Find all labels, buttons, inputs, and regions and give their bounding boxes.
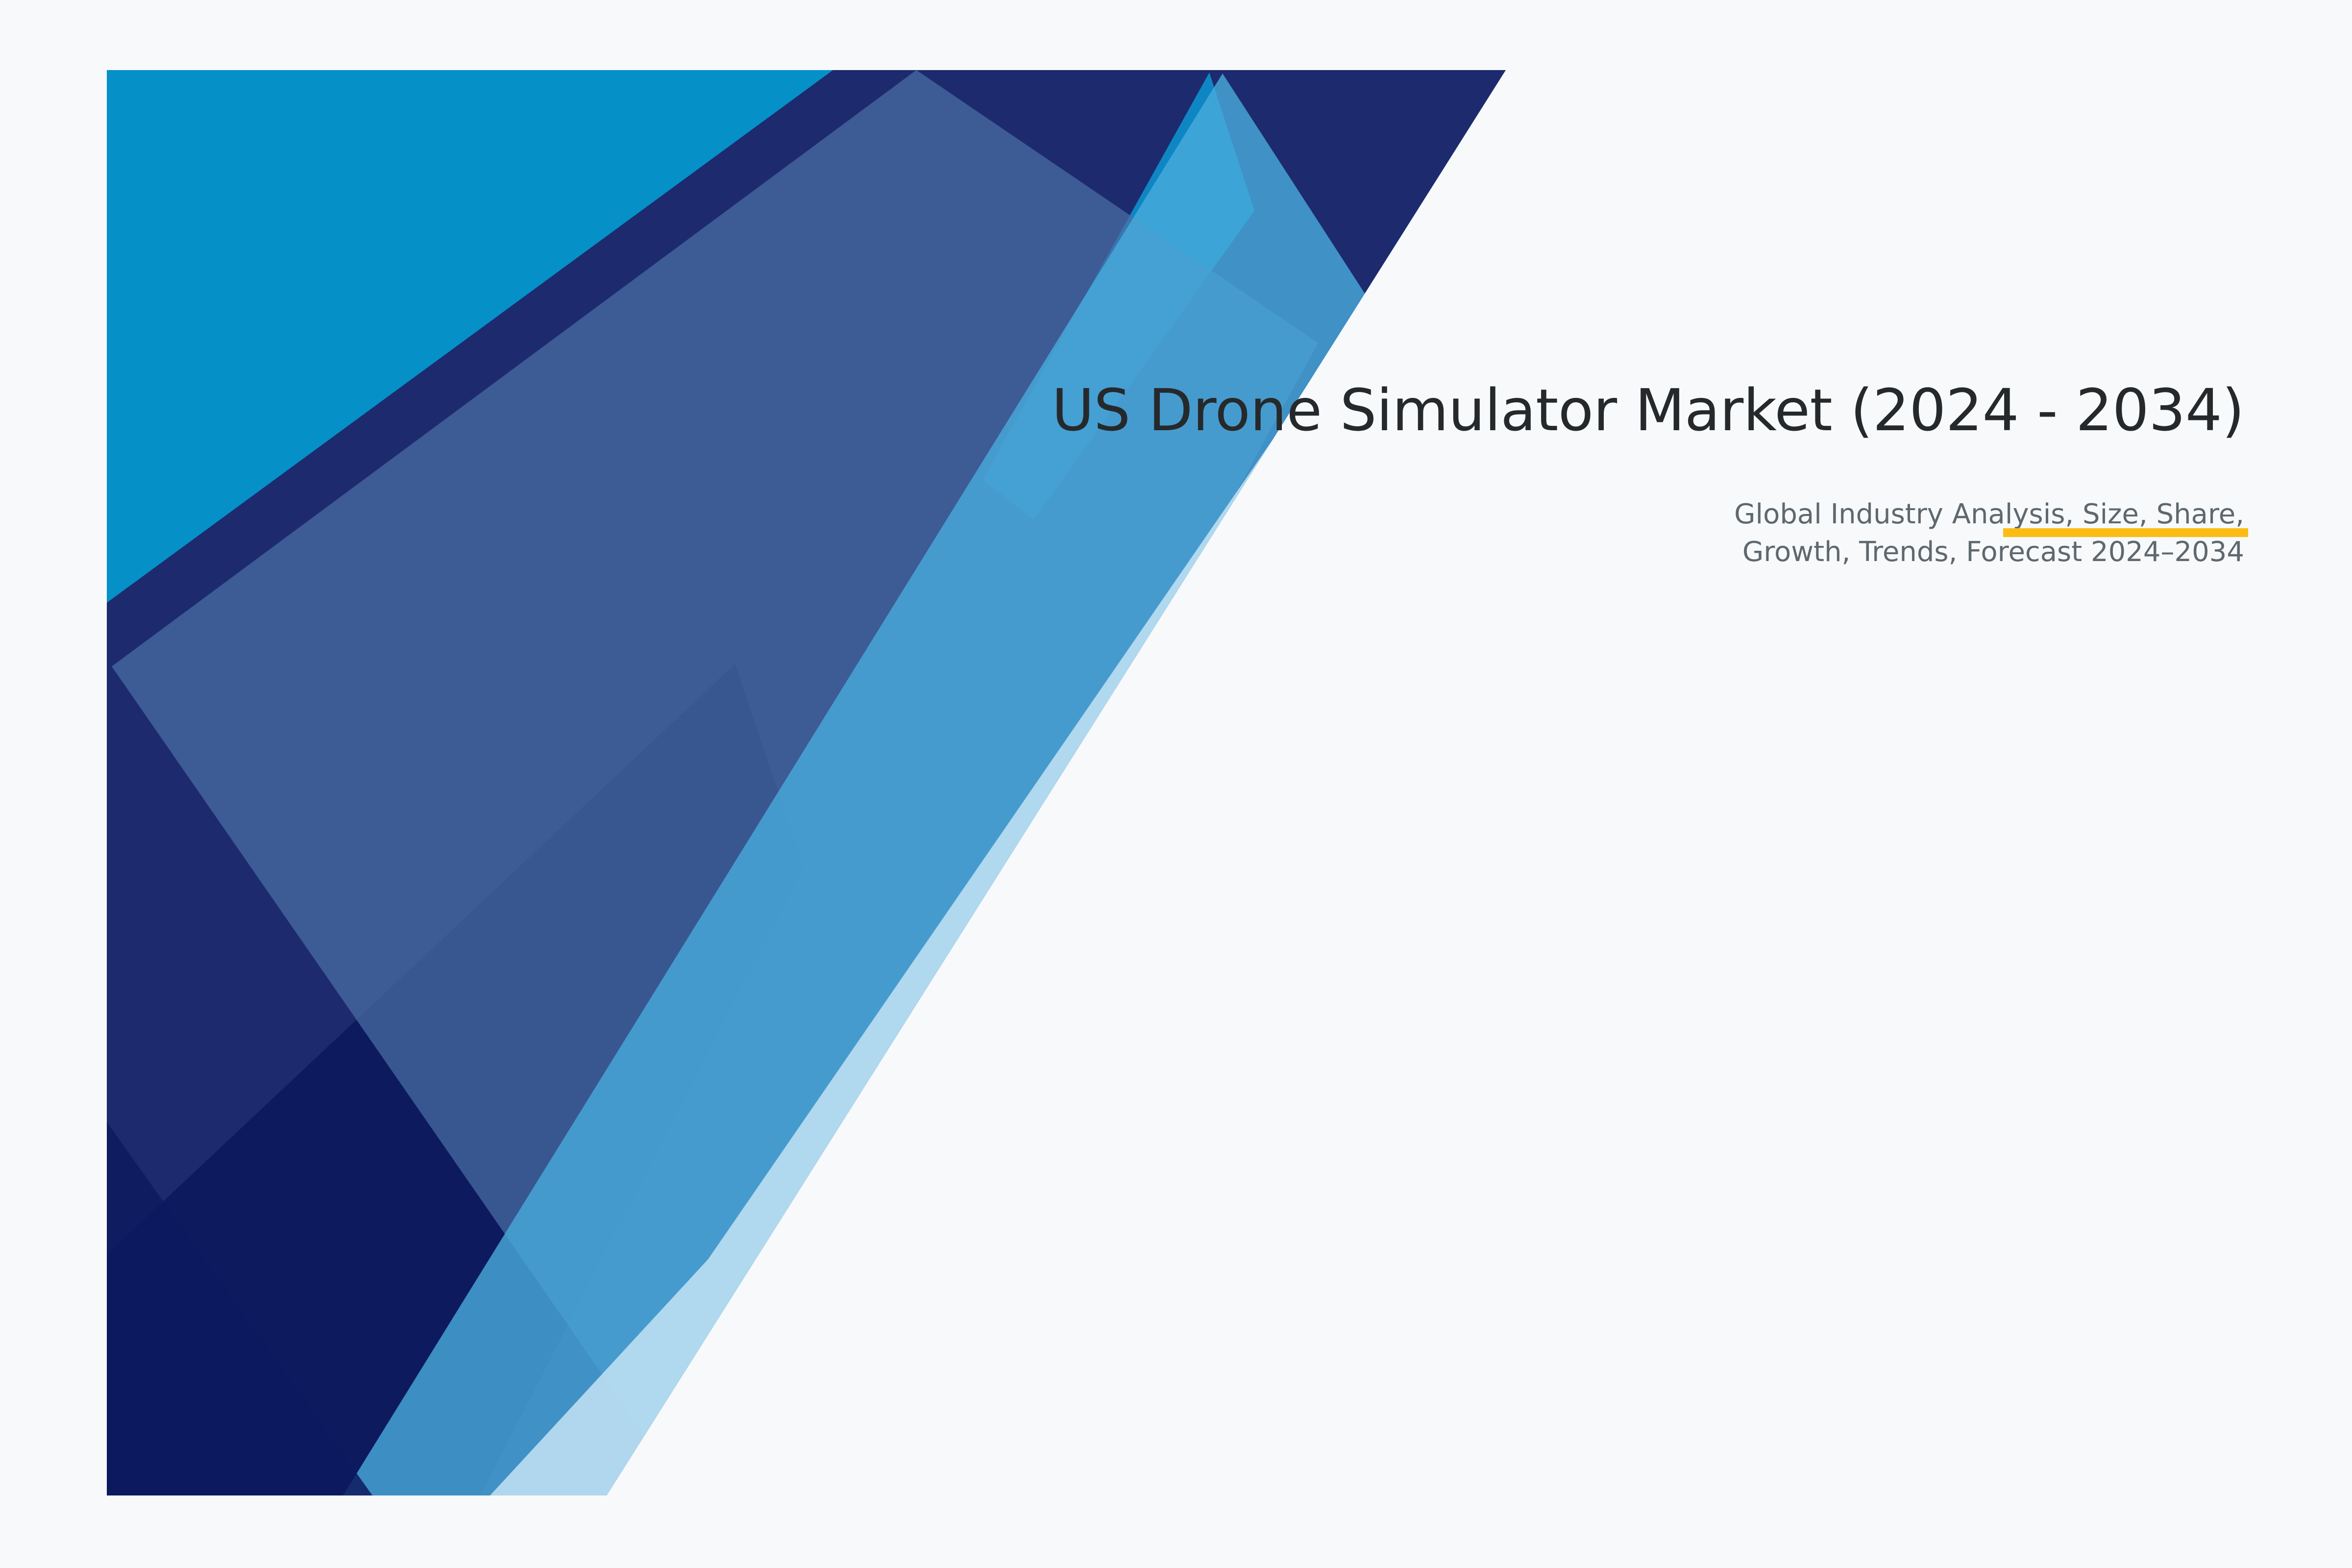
- page-subtitle: Global Industry Analysis, Size, Share, G…: [833, 449, 2244, 571]
- title-underline-accent: [2003, 528, 2248, 537]
- page-subtitle-line-1: Global Industry Analysis, Size, Share,: [833, 495, 2244, 533]
- slide-canvas: US Drone Simulator Market (2024 - 2034) …: [0, 0, 2352, 1568]
- abstract-geometric-artwork: [0, 0, 2352, 1568]
- page-title: US Drone Simulator Market (2024 - 2034): [833, 372, 2244, 449]
- cover-text-block: US Drone Simulator Market (2024 - 2034) …: [833, 372, 2244, 571]
- title-wrapper: US Drone Simulator Market (2024 - 2034): [833, 372, 2244, 449]
- page-subtitle-line-2: Growth, Trends, Forecast 2024–2034: [833, 533, 2244, 571]
